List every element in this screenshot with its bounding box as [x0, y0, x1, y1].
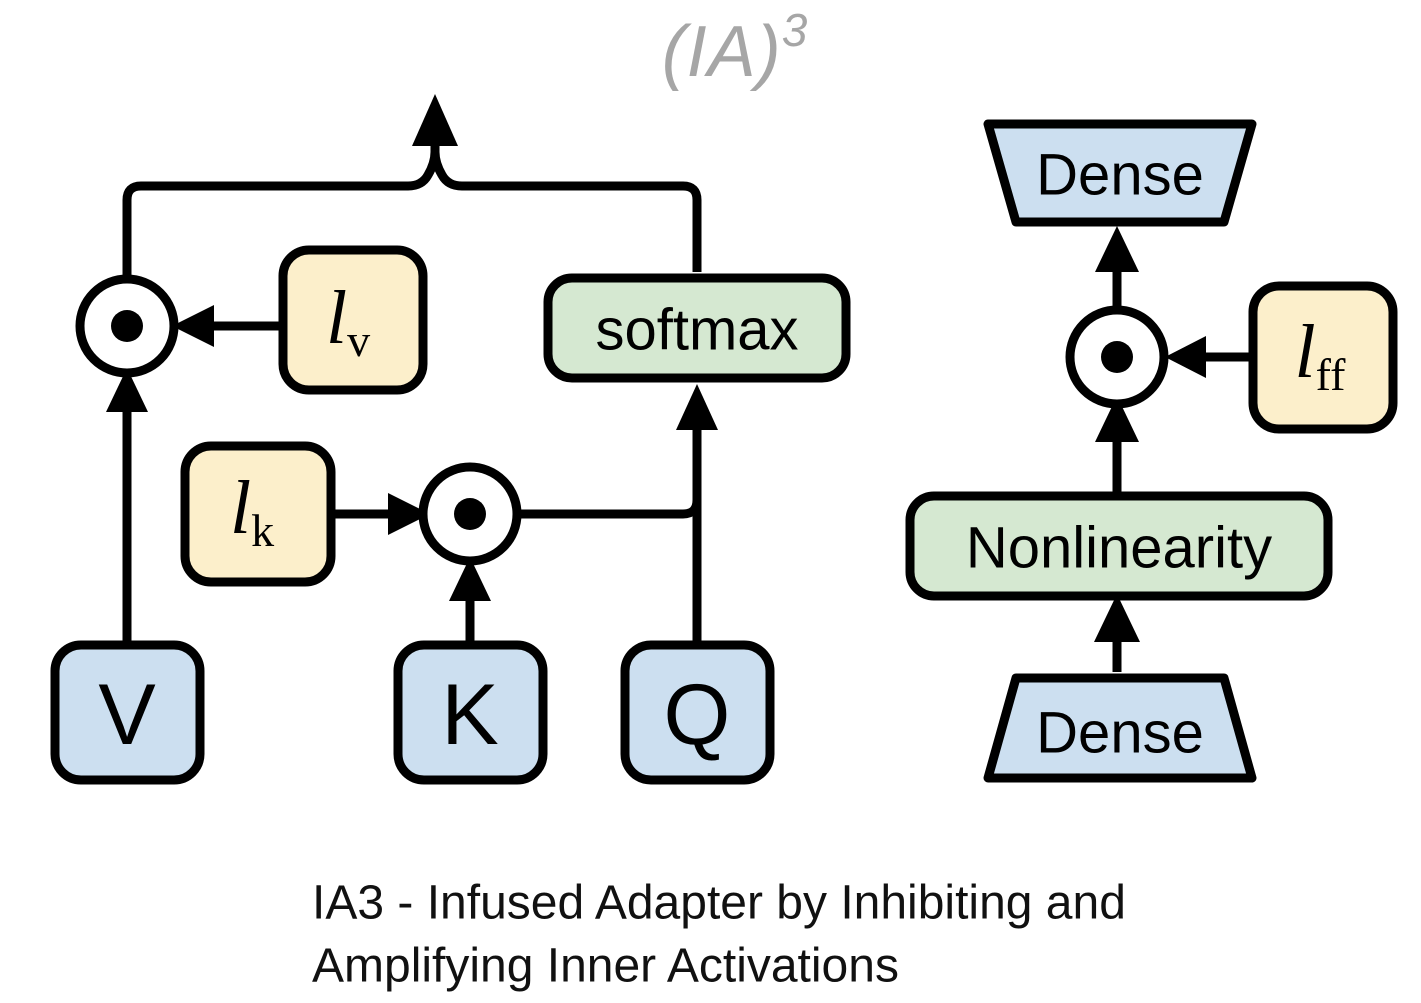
node-softmax-label: softmax: [595, 298, 798, 363]
wire-v-to-mulv: [106, 368, 148, 645]
wire-mulk-to-softmax: [513, 408, 697, 514]
ia3-diagram: (IA)3: [0, 0, 1421, 1003]
node-k[interactable]: K: [398, 645, 543, 780]
node-lk-subscript: k: [251, 505, 274, 556]
wire-nonlinearity-to-mulff: [1095, 396, 1139, 492]
caption-line-1: IA3 - Infused Adapter by Inhibiting and: [312, 877, 1126, 930]
node-dense-in[interactable]: Dense: [988, 678, 1252, 778]
ffn-block: Dense lff Nonlinearity Dense: [910, 124, 1393, 778]
node-lk-symbol: l: [230, 466, 251, 550]
wire-lv-to-mulv: [172, 305, 283, 347]
attention-block: V K Q lv lk softmax: [55, 94, 846, 780]
op-multiply-v[interactable]: [80, 279, 174, 373]
node-lff-symbol: l: [1295, 310, 1316, 394]
node-k-label: K: [441, 667, 498, 763]
node-lff[interactable]: lff: [1253, 286, 1393, 429]
wire-lff-to-mulff: [1165, 336, 1253, 378]
op-multiply-ff[interactable]: [1070, 310, 1164, 404]
node-softmax[interactable]: softmax: [548, 278, 846, 378]
node-lv-symbol: l: [326, 276, 347, 360]
wire-softmax-to-junction: [462, 186, 697, 272]
wire-mulff-to-denseout: [1095, 226, 1139, 310]
diagram-caption: IA3 - Infused Adapter by Inhibiting and …: [312, 877, 1126, 993]
svg-text:(IA)3: (IA)3: [662, 4, 809, 92]
node-dense-out[interactable]: Dense: [988, 124, 1252, 222]
diagram-title: (IA)3: [662, 4, 809, 92]
wire-densein-to-nonlinearity: [1094, 594, 1140, 672]
wire-attention-output: [408, 94, 462, 186]
node-q-label: Q: [664, 667, 731, 763]
node-lv[interactable]: lv: [283, 250, 423, 390]
node-dense-out-label: Dense: [1036, 143, 1204, 208]
diagram-canvas: (IA)3: [0, 0, 1421, 1003]
node-lff-subscript: ff: [1316, 349, 1346, 400]
node-v-label: V: [98, 667, 155, 763]
node-dense-in-label: Dense: [1036, 701, 1204, 766]
title-superscript: 3: [782, 4, 809, 56]
title-main: (IA): [662, 12, 782, 92]
caption-line-2: Amplifying Inner Activations: [312, 940, 899, 993]
node-v[interactable]: V: [55, 645, 200, 780]
op-multiply-k[interactable]: [423, 467, 517, 561]
wire-k-to-mulk: [449, 557, 491, 645]
node-lv-subscript: v: [347, 315, 370, 366]
node-nonlinearity[interactable]: Nonlinearity: [910, 496, 1328, 596]
wire-lk-to-mulk: [331, 493, 430, 535]
node-q[interactable]: Q: [625, 645, 770, 780]
node-lk[interactable]: lk: [185, 446, 331, 582]
node-nonlinearity-label: Nonlinearity: [966, 516, 1272, 581]
